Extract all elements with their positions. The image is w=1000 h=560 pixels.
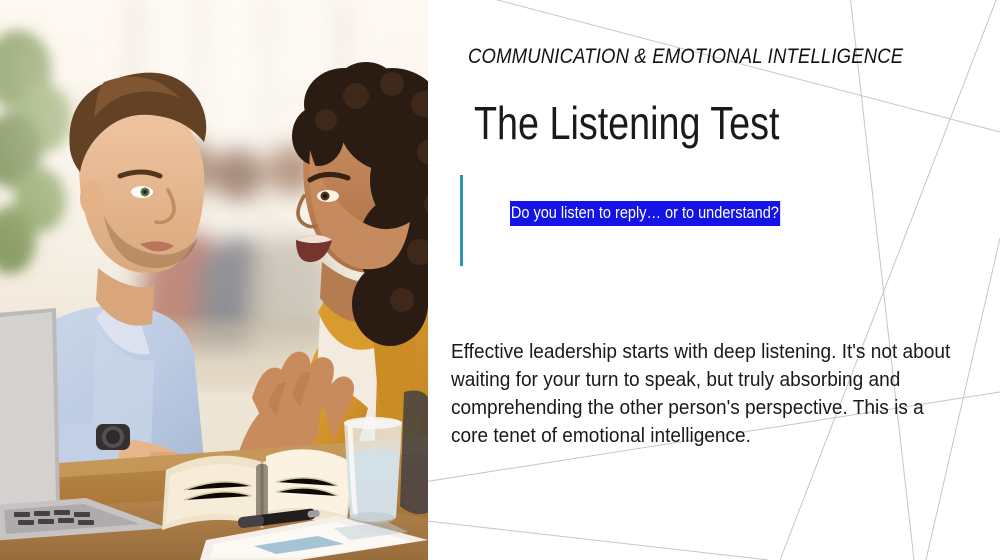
slide-photo <box>0 0 428 560</box>
quote-scaler: Do you listen to reply… or to understand… <box>510 202 780 224</box>
slide-eyebrow-label: COMMUNICATION & EMOTIONAL INTELLIGENCE <box>468 44 903 69</box>
quote-accent-bar <box>460 175 463 266</box>
decorative-line-pattern <box>428 0 1000 560</box>
body-paragraph: Effective leadership starts with deep li… <box>451 338 963 451</box>
conversation-photo-illustration <box>0 0 428 560</box>
slide-content-panel: COMMUNICATION & EMOTIONAL INTELLIGENCE T… <box>428 0 1000 560</box>
quote-text-wrapper[interactable]: Do you listen to reply… or to understand… <box>510 202 870 224</box>
selected-quote-text[interactable]: Do you listen to reply… or to understand… <box>510 201 780 226</box>
pull-quote-block: Do you listen to reply… or to understand… <box>460 175 880 267</box>
page-title: The Listening Test <box>474 99 779 147</box>
presentation-slide: COMMUNICATION & EMOTIONAL INTELLIGENCE T… <box>0 0 1000 560</box>
